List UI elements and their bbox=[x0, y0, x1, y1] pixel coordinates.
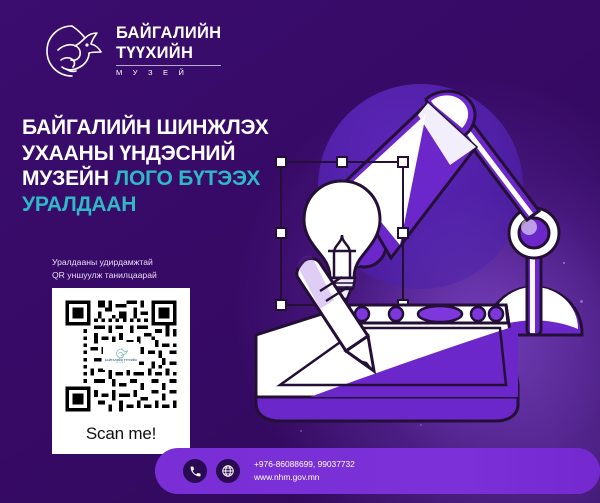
contact-details: +976-86088699, 99037732 www.nhm.gov.mn bbox=[254, 458, 355, 484]
headline-line-3-white: МУЗЕЙН bbox=[22, 167, 114, 190]
sparkle-dot bbox=[300, 430, 302, 432]
drawing-tablet-illustration bbox=[256, 305, 518, 421]
phone-icon[interactable] bbox=[183, 459, 207, 483]
poster-canvas: БАЙГАЛИЙН ТҮҮХИЙН М У З Е Й БАЙГАЛИЙН ШИ… bbox=[0, 0, 600, 503]
brand-line-2: ТҮҮХИЙН bbox=[116, 45, 221, 62]
qr-caption: Уралдааны удирдамжтай QR уншуулж танилца… bbox=[52, 256, 232, 282]
contact-phone[interactable]: +976-86088699, 99037732 bbox=[254, 458, 355, 471]
brand-divider bbox=[116, 65, 221, 66]
qr-card[interactable]: БАЙГАЛИЙН ТҮҮХИЙН МУЗЕЙ Scan me! bbox=[52, 288, 190, 454]
qr-center-logo: БАЙГАЛИЙН ТҮҮХИЙН МУЗЕЙ bbox=[103, 342, 139, 370]
scan-me-label: Scan me! bbox=[86, 424, 156, 444]
headline-line-3-teal: ЛОГО БҮТЭЭХ bbox=[114, 167, 260, 190]
contact-footer-bar: +976-86088699, 99037732 www.nhm.gov.mn bbox=[155, 448, 600, 494]
illustration-group bbox=[250, 85, 600, 430]
brand-line-1: БАЙГАЛИЙН bbox=[116, 25, 221, 42]
qr-caption-line-1: Уралдааны удирдамжтай bbox=[52, 256, 232, 269]
phone-glyph bbox=[189, 465, 202, 478]
contact-website[interactable]: www.nhm.gov.mn bbox=[254, 471, 355, 484]
qr-logo-sub: МУЗЕЙ bbox=[116, 362, 125, 364]
qr-caption-line-2: QR уншуулж танилцаарай bbox=[52, 269, 232, 282]
globe-icon[interactable] bbox=[216, 459, 240, 483]
dinosaur-head-icon bbox=[42, 22, 104, 80]
brand-line-3: М У З Е Й bbox=[116, 69, 221, 77]
qr-logo-dinosaur-icon bbox=[115, 348, 128, 359]
qr-code-image[interactable]: БАЙГАЛИЙН ТҮҮХИЙН МУЗЕЙ bbox=[62, 297, 180, 415]
brand-logo: БАЙГАЛИЙН ТҮҮХИЙН М У З Е Й bbox=[42, 22, 221, 80]
globe-glyph bbox=[221, 464, 235, 478]
